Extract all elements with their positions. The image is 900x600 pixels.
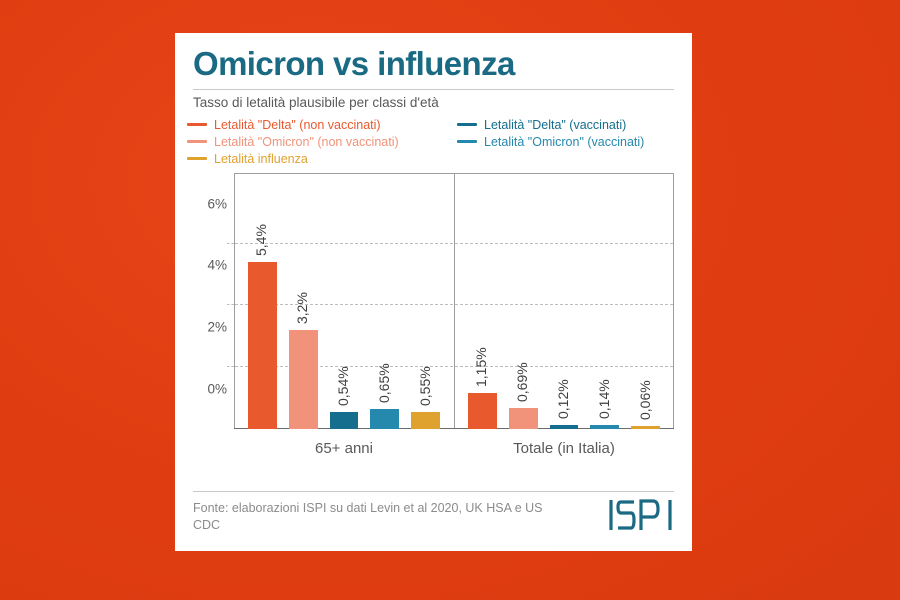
category-label-wrap-0: 65+ anni <box>234 429 454 463</box>
chart-plot-area: 0%2%4%6% 5,4%3,2%0,54%0,65%0,55% 1,15%0,… <box>193 173 674 463</box>
legend-item[interactable]: Letalità "Omicron" (vaccinati) <box>457 134 644 150</box>
bar-slot[interactable]: 0,12% <box>550 213 579 429</box>
bar[interactable] <box>289 330 318 429</box>
legend-item-label: Letalità "Omicron" (non vaccinati) <box>214 136 399 149</box>
bar[interactable] <box>411 412 440 429</box>
bar[interactable] <box>330 412 359 429</box>
y-tick-label: 0% <box>193 381 227 396</box>
legend-swatch-icon <box>187 123 207 126</box>
legend-item[interactable]: Letalità "Delta" (vaccinati) <box>457 117 644 133</box>
category-label-0: 65+ anni <box>234 440 454 457</box>
category-label-wrap-1: Totale (in Italia) <box>454 429 674 463</box>
legend-column-left: Letalità "Delta" (non vaccinati)Letalità… <box>187 117 399 168</box>
bar-slot[interactable]: 3,2% <box>289 213 318 429</box>
legend-swatch-icon <box>457 123 477 126</box>
legend-item-label: Letalità "Delta" (non vaccinati) <box>214 119 381 132</box>
bar-group-0: 5,4%3,2%0,54%0,65%0,55% <box>234 213 454 429</box>
bar-value-label: 0,14% <box>596 379 612 419</box>
bar-value-label: 0,55% <box>417 366 433 406</box>
footer-row: Fonte: elaborazioni ISPI su dati Levin e… <box>193 500 674 537</box>
card-header: Omicron vs influenza Tasso di letalità p… <box>175 33 692 111</box>
bar[interactable] <box>248 262 277 429</box>
bar-value-label: 0,54% <box>335 366 351 406</box>
legend-swatch-icon <box>187 157 207 160</box>
legend-column-right: Letalità "Delta" (vaccinati)Letalità "Om… <box>457 117 644 151</box>
legend-swatch-icon <box>457 140 477 143</box>
bar-value-label: 3,2% <box>294 292 310 324</box>
bar-value-label: 0,65% <box>376 363 392 403</box>
legend-swatch-icon <box>187 140 207 143</box>
y-tick-label: 6% <box>193 196 227 211</box>
bars-1: 1,15%0,69%0,12%0,14%0,06% <box>454 213 674 429</box>
bar-slot[interactable]: 0,55% <box>411 213 440 429</box>
bar[interactable] <box>370 409 399 429</box>
category-label-1: Totale (in Italia) <box>454 440 674 457</box>
legend-item-label: Letalità "Delta" (vaccinati) <box>484 119 626 132</box>
bar-slot[interactable]: 5,4% <box>248 213 277 429</box>
legend-item[interactable]: Letalità "Omicron" (non vaccinati) <box>187 134 399 150</box>
y-tick-label: 2% <box>193 320 227 335</box>
bar-slot[interactable]: 0,14% <box>590 213 619 429</box>
legend-item-label: Letalità influenza <box>214 153 308 166</box>
ispi-logo-icon <box>608 498 674 532</box>
y-tick-label: 4% <box>193 258 227 273</box>
bar-slot[interactable]: 0,54% <box>330 213 359 429</box>
card-footer: Fonte: elaborazioni ISPI su dati Levin e… <box>193 491 674 537</box>
title-divider <box>193 89 674 90</box>
footer-divider <box>193 491 674 492</box>
bar-value-label: 1,15% <box>473 348 489 388</box>
chart-legend: Letalità "Delta" (non vaccinati)Letalità… <box>175 117 692 169</box>
bar-value-label: 5,4% <box>253 224 269 256</box>
bars-0: 5,4%3,2%0,54%0,65%0,55% <box>234 213 454 429</box>
legend-item-label: Letalità "Omicron" (vaccinati) <box>484 136 644 149</box>
bar[interactable] <box>468 393 497 428</box>
infographic-card: Omicron vs influenza Tasso di letalità p… <box>175 33 692 551</box>
bar-slot[interactable]: 0,65% <box>370 213 399 429</box>
bar-slot[interactable]: 1,15% <box>468 213 497 429</box>
ispi-logo <box>608 498 674 537</box>
page-title: Omicron vs influenza <box>193 47 674 82</box>
bar[interactable] <box>509 408 538 429</box>
y-tick-dash <box>227 366 234 367</box>
source-note: Fonte: elaborazioni ISPI su dati Levin e… <box>193 500 563 534</box>
chart-subtitle: Tasso di letalità plausibile per classi … <box>193 95 674 111</box>
bar-value-label: 0,12% <box>555 379 571 419</box>
y-tick-dash <box>227 304 234 305</box>
bar-group-1: 1,15%0,69%0,12%0,14%0,06% <box>454 213 674 429</box>
y-tick-dash <box>227 243 234 244</box>
bar-slot[interactable]: 0,69% <box>509 213 538 429</box>
bar-value-label: 0,69% <box>514 362 530 402</box>
legend-item[interactable]: Letalità influenza <box>187 151 399 167</box>
legend-item[interactable]: Letalità "Delta" (non vaccinati) <box>187 117 399 133</box>
bar-slot[interactable]: 0,06% <box>631 213 660 429</box>
bar-value-label: 0,06% <box>637 380 653 420</box>
